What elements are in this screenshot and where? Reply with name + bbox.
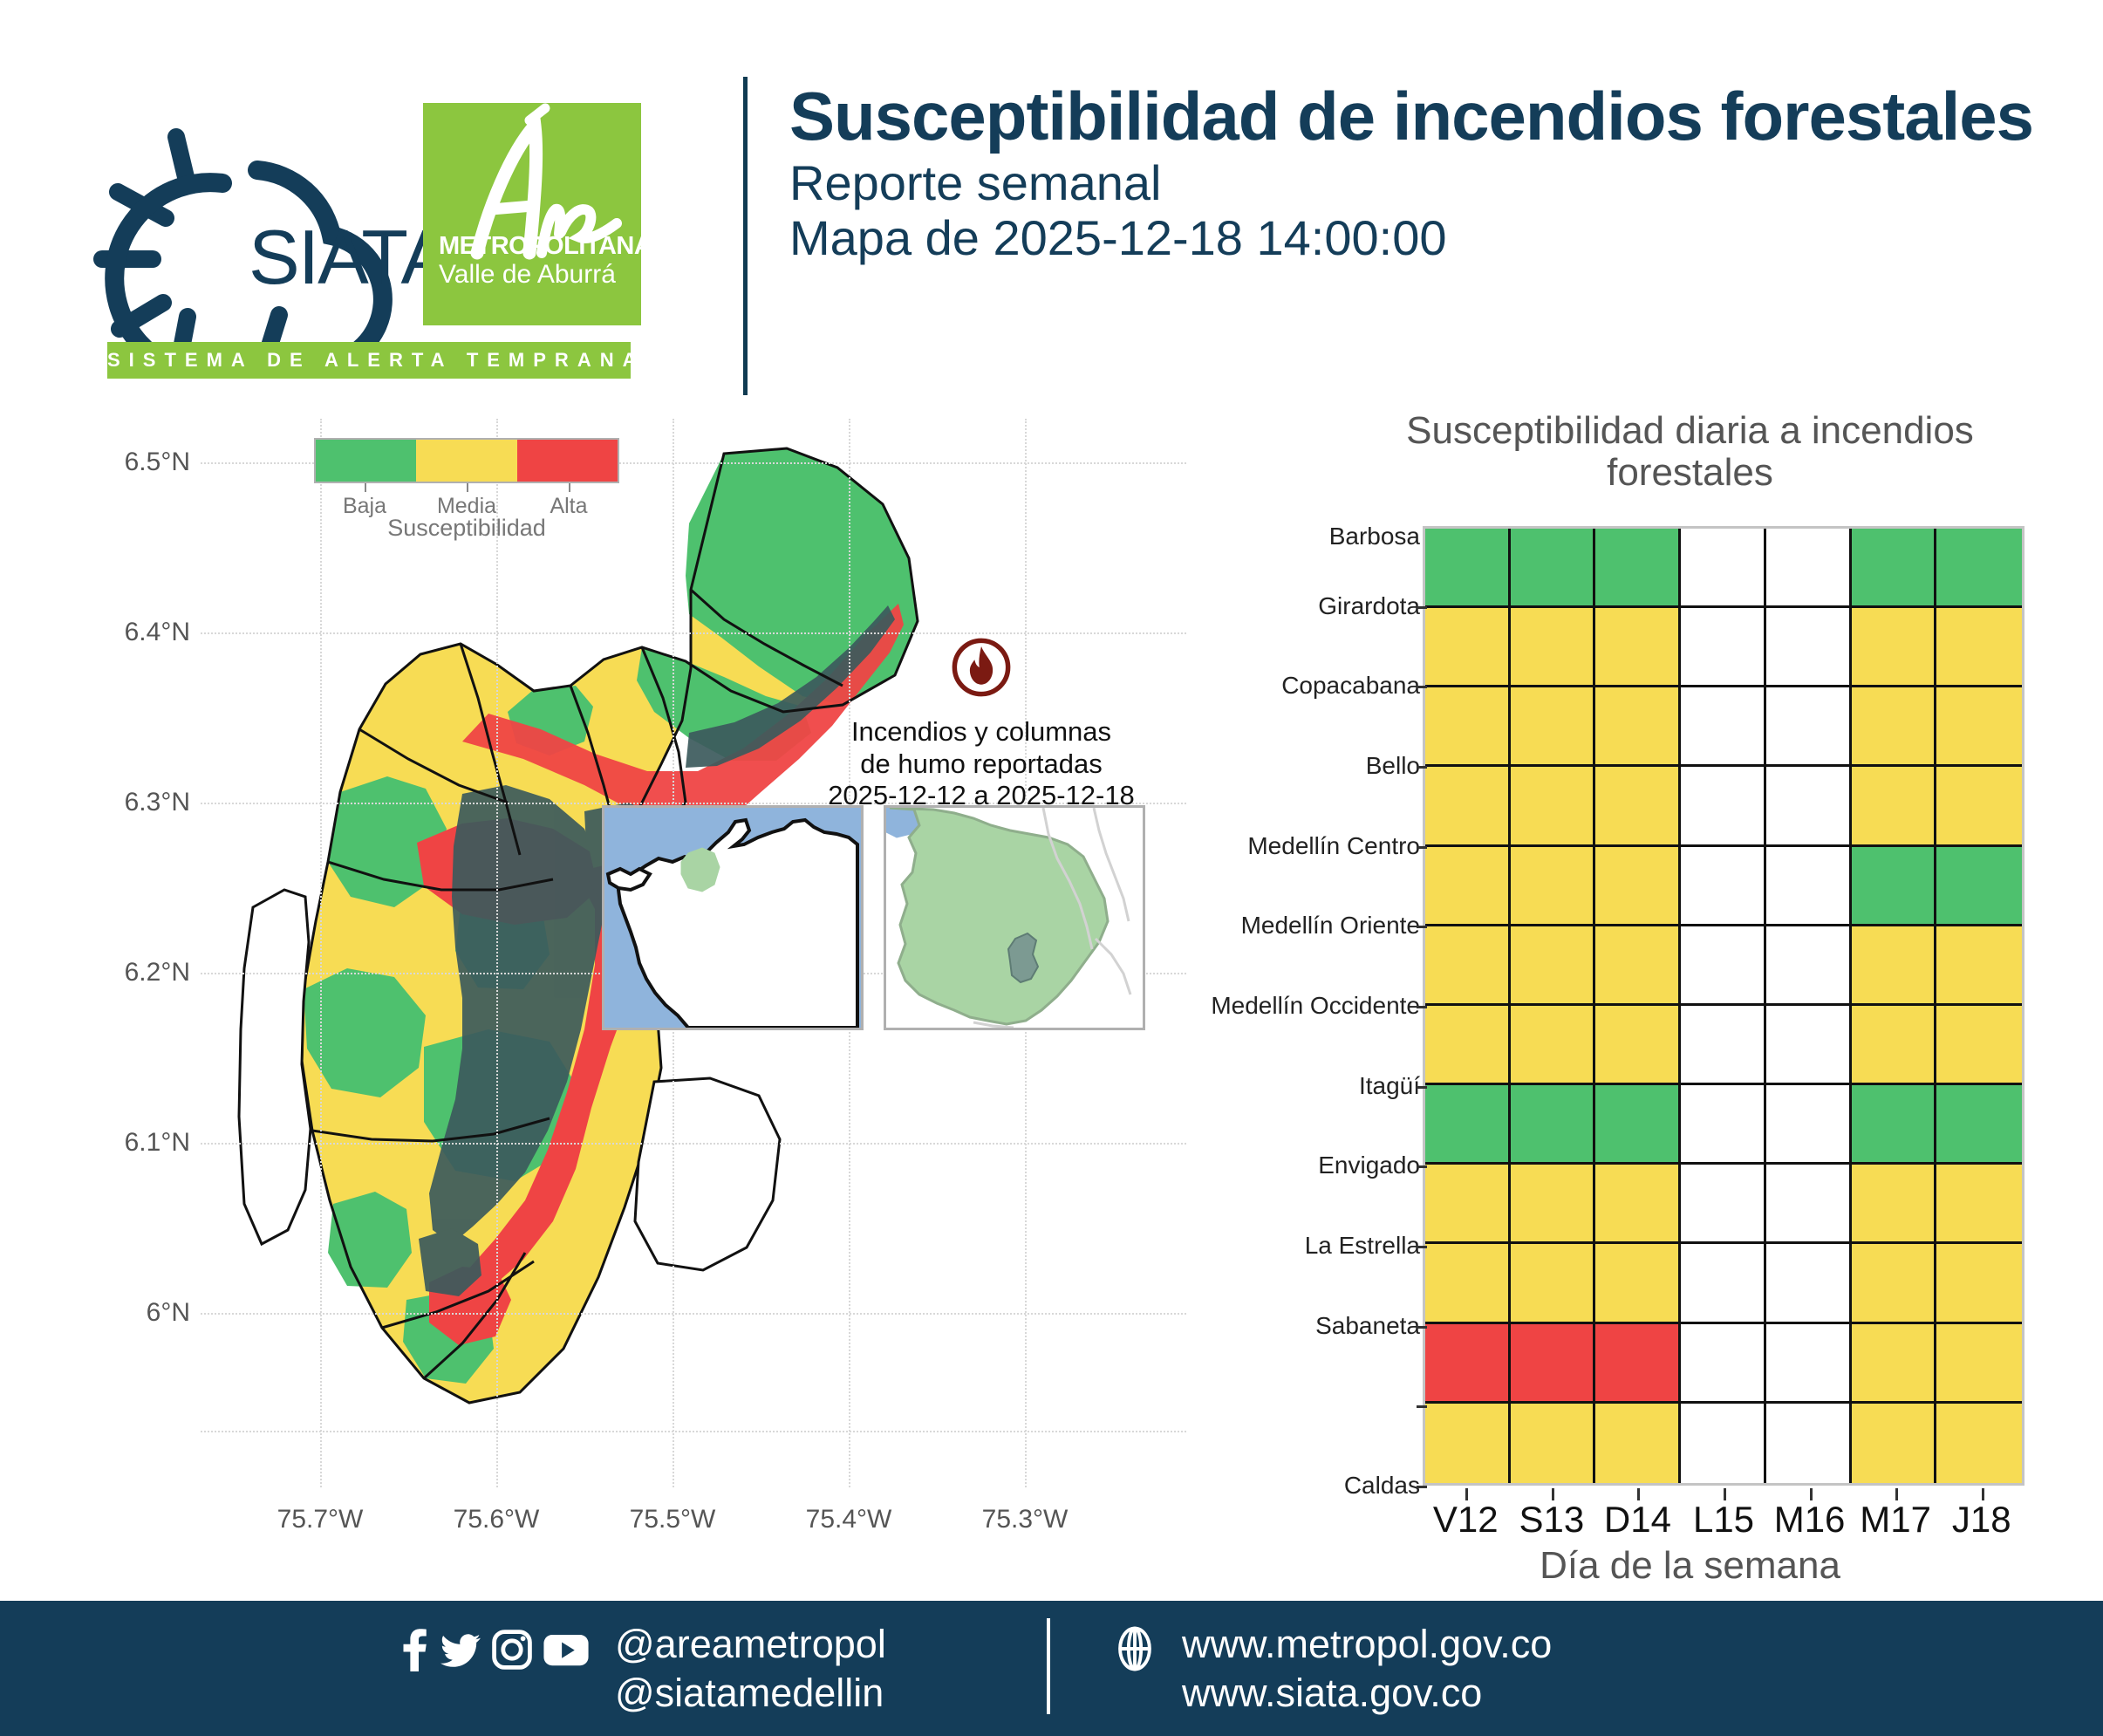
heatmap-cell[interactable] [1936,1165,2022,1244]
svg-text:SIATA: SIATA [249,214,453,300]
heatmap-cell[interactable] [1766,1324,1852,1404]
heatmap-cell[interactable] [1852,1085,1937,1165]
handle-siatamedellin[interactable]: @siatamedellin [615,1669,886,1718]
heatmap-cell[interactable] [1511,1165,1596,1244]
legend-title: Susceptibilidad [314,515,619,542]
map-xtick: 75.4°W [806,1505,892,1534]
heatmap-cell[interactable] [1425,847,1511,926]
heatmap-cell[interactable] [1936,1244,2022,1323]
heatmap-cell[interactable] [1766,1006,1852,1085]
heatmap-cell[interactable] [1852,1244,1937,1323]
heatmap-cell[interactable] [1681,1404,1766,1483]
heatmap-y-label: Medellín Centro [1247,832,1420,860]
legend-swatch-baja [316,440,416,482]
map-ytick: 6.5°N [125,448,190,477]
heatmap-x-label: D14 [1604,1499,1671,1541]
heatmap-x-tick [1465,1488,1468,1500]
heatmap-cell[interactable] [1511,1244,1596,1323]
heatmap-x-tick [1637,1488,1640,1500]
facebook-icon[interactable] [397,1627,432,1672]
youtube-icon[interactable] [542,1627,591,1672]
map-xtick: 75.7°W [277,1505,364,1534]
legend-swatch-media [416,440,516,482]
map-timestamp: Mapa de 2025-12-18 14:00:00 [789,211,2080,266]
heatmap-cell[interactable] [1511,1006,1596,1085]
heatmap-x-tick [1895,1488,1898,1500]
heatmap-grid[interactable] [1423,526,2024,1486]
heatmap-y-tick [1417,926,1427,928]
legend-colorbar [314,438,619,483]
heatmap-cell[interactable] [1425,687,1511,767]
heatmap-y-label: Sabaneta [1315,1312,1420,1340]
heatmap-y-label: Copacabana [1281,672,1420,700]
area-line2: Valle de Aburrá [439,262,638,288]
heatmap-cell[interactable] [1425,1404,1511,1483]
heatmap-cell[interactable] [1595,687,1681,767]
map-gridline-v [320,419,322,1487]
heatmap-cell[interactable] [1936,926,2022,1006]
heatmap-cell[interactable] [1595,529,1681,608]
map-ytick: 6.3°N [125,788,190,817]
heatmap-y-label: Barbosa [1329,523,1420,550]
heatmap-cell[interactable] [1425,1244,1511,1323]
heatmap-cell[interactable] [1852,1404,1937,1483]
heatmap-cell[interactable] [1511,529,1596,608]
footer-web-block: www.metropol.gov.co www.siata.gov.co [1112,1620,1552,1719]
heatmap-x-axis-title: Día de la semana [1321,1544,2059,1588]
heatmap-cell[interactable] [1595,1404,1681,1483]
colombia-inset [602,805,864,1030]
heatmap-cell[interactable] [1425,926,1511,1006]
heatmap-cell[interactable] [1681,1244,1766,1323]
heatmap-y-tick [1417,1086,1427,1089]
heatmap-cell[interactable] [1852,926,1937,1006]
heatmap-cell[interactable] [1595,767,1681,846]
heatmap-cell[interactable] [1681,687,1766,767]
area-line1: METROPOLITANA [439,234,638,259]
susceptibility-legend: Baja Media Alta Susceptibilidad [314,438,619,525]
antioquia-inset-map [886,808,1143,1028]
heatmap-cell[interactable] [1681,608,1766,687]
heatmap-cell[interactable] [1852,687,1937,767]
heatmap-cell[interactable] [1852,1006,1937,1085]
heatmap-cell[interactable] [1511,1324,1596,1404]
heatmap-x-label: J18 [1952,1499,2011,1541]
heatmap-cell[interactable] [1595,1165,1681,1244]
footer: @areametropol @siatamedellin www.metropo… [0,1601,2103,1736]
heatmap-y-tick [1417,1246,1427,1248]
footer-social-block: @areametropol @siatamedellin [397,1620,886,1719]
heatmap-y-label: Itagüí [1359,1072,1420,1100]
heatmap-cell[interactable] [1852,608,1937,687]
heatmap-cell[interactable] [1681,1085,1766,1165]
heatmap-x-tick [1552,1488,1554,1500]
heatmap-cell[interactable] [1681,847,1766,926]
instagram-icon[interactable] [491,1627,533,1672]
header: SIATA SISTEMA DE ALERTA TEMPRANA METROPO… [0,0,2103,401]
map-gridline-h [201,632,1186,634]
heatmap-cell[interactable] [1766,687,1852,767]
heatmap-cell[interactable] [1852,529,1937,608]
poster-root: SIATA SISTEMA DE ALERTA TEMPRANA METROPO… [0,0,2103,1736]
heatmap-cell[interactable] [1936,1085,2022,1165]
heatmap-cell[interactable] [1852,1165,1937,1244]
handle-areametropol[interactable]: @areametropol [615,1620,886,1669]
heatmap-y-label: Medellín Oriente [1241,912,1420,940]
social-icons [397,1620,591,1672]
url-siata[interactable]: www.siata.gov.co [1182,1669,1552,1718]
globe-icon [1112,1625,1157,1672]
heatmap-y-label: Girardota [1318,592,1420,620]
heatmap-cell[interactable] [1425,608,1511,687]
title-block: Susceptibilidad de incendios forestales … [789,83,2080,266]
heatmap-cell[interactable] [1595,847,1681,926]
heatmap-x-tick [1810,1488,1813,1500]
website-urls: www.metropol.gov.co www.siata.gov.co [1182,1620,1552,1719]
page-subtitle: Reporte semanal [789,156,2080,211]
heatmap-cell[interactable] [1681,1006,1766,1085]
map-xtick: 75.6°W [454,1505,540,1534]
heatmap-y-tick [1417,766,1427,769]
fire-annotation-line1: Incendios y columnas [811,716,1151,748]
url-metropol[interactable]: www.metropol.gov.co [1182,1620,1552,1669]
heatmap-cell[interactable] [1681,767,1766,846]
heatmap-y-tick [1417,846,1427,849]
heatmap-cell[interactable] [1511,926,1596,1006]
map-gridline-h [201,1313,1186,1315]
map-ytick: 6°N [147,1298,190,1328]
heatmap-panel: Susceptibilidad diaria a incendios fores… [1217,410,2076,1570]
heatmap-cell[interactable] [1936,1324,2022,1404]
heatmap-cell[interactable] [1595,1324,1681,1404]
heatmap-cell[interactable] [1425,1165,1511,1244]
map-gridline-h [201,1431,1186,1432]
heatmap-x-tick [1982,1488,1984,1500]
heatmap-x-label: M16 [1774,1499,1846,1541]
heatmap-cell[interactable] [1595,1006,1681,1085]
map-ytick: 6.1°N [125,1128,190,1158]
heatmap-cell[interactable] [1425,1006,1511,1085]
heatmap-cell[interactable] [1936,847,2022,926]
heatmap-x-tick [1724,1488,1726,1500]
heatmap-cell[interactable] [1936,1006,2022,1085]
heatmap-title: Susceptibilidad diaria a incendios fores… [1321,410,2059,495]
heatmap-cell[interactable] [1936,687,2022,767]
heatmap-x-label: S13 [1519,1499,1584,1541]
heatmap-cell[interactable] [1511,1085,1596,1165]
heatmap-cell[interactable] [1766,1085,1852,1165]
fire-annotation-line2: de humo reportadas [811,748,1151,781]
heatmap-x-label: V12 [1433,1499,1499,1541]
heatmap-y-label: Bello [1366,752,1420,780]
heatmap-cell[interactable] [1425,1324,1511,1404]
heatmap-cell[interactable] [1595,608,1681,687]
map-ytick: 6.4°N [125,618,190,647]
heatmap-cell[interactable] [1936,608,2022,687]
heatmap-cell[interactable] [1595,1244,1681,1323]
heatmap-cell[interactable] [1595,1085,1681,1165]
heatmap-y-label: Caldas [1344,1472,1420,1500]
heatmap-cell[interactable] [1681,926,1766,1006]
heatmap-cell[interactable] [1936,529,2022,608]
heatmap-cell[interactable] [1766,1165,1852,1244]
footer-divider [1047,1618,1050,1714]
heatmap-y-tick [1417,1486,1427,1488]
heatmap-cell[interactable] [1425,529,1511,608]
map-panel: 6.5°N 6.4°N 6.3°N 6.2°N 6.1°N 6°N 75.7°W… [52,410,1204,1570]
heatmap-cell[interactable] [1766,1244,1852,1323]
heatmap-cell[interactable] [1852,1324,1937,1404]
heatmap-y-tick [1417,686,1427,688]
page-title: Susceptibilidad de incendios forestales [789,83,2080,149]
map-ytick: 6.2°N [125,958,190,988]
heatmap-cell[interactable] [1852,767,1937,846]
heatmap-x-label: L15 [1693,1499,1754,1541]
antioquia-inset [884,805,1145,1030]
heatmap-cell[interactable] [1681,1165,1766,1244]
heatmap-y-tick [1417,1326,1427,1329]
fire-icon [951,637,1012,698]
twitter-icon[interactable] [440,1627,482,1672]
map-gridline-v [496,419,498,1487]
heatmap-cell[interactable] [1511,687,1596,767]
map-gridline-h [201,1143,1186,1145]
heatmap-cell[interactable] [1766,608,1852,687]
legend-swatch-alta [517,440,618,482]
map-xtick: 75.3°W [982,1505,1069,1534]
heatmap-cell[interactable] [1681,1324,1766,1404]
heatmap-y-label: Envigado [1318,1152,1420,1179]
heatmap-x-label: M17 [1860,1499,1931,1541]
heatmap-y-tick [1417,606,1427,609]
heatmap-cell[interactable] [1936,767,2022,846]
header-divider [743,77,748,395]
heatmap-cell[interactable] [1766,529,1852,608]
heatmap-cell[interactable] [1936,1404,2022,1483]
heatmap-cell[interactable] [1511,767,1596,846]
heatmap-y-tick [1417,1006,1427,1008]
heatmap-cell[interactable] [1425,1085,1511,1165]
heatmap-cell[interactable] [1766,847,1852,926]
heatmap-y-tick [1417,1405,1427,1408]
heatmap-cell[interactable] [1766,1404,1852,1483]
area-metropolitana-logo: METROPOLITANA Valle de Aburrá [423,103,641,325]
map-plot-area: 6.5°N 6.4°N 6.3°N 6.2°N 6.1°N 6°N 75.7°W… [201,419,1186,1487]
map-xtick: 75.5°W [630,1505,716,1534]
heatmap-cell[interactable] [1852,847,1937,926]
heatmap-y-label: La Estrella [1305,1232,1420,1260]
colombia-inset-map [604,808,861,1028]
heatmap-y-label: Medellín Occidente [1211,992,1420,1020]
legend-ticks [314,483,619,494]
heatmap-cell[interactable] [1511,608,1596,687]
heatmap-cell[interactable] [1766,926,1852,1006]
heatmap-y-tick [1417,1165,1427,1168]
social-handles: @areametropol @siatamedellin [615,1620,886,1719]
heatmap-cell[interactable] [1595,926,1681,1006]
heatmap-cell[interactable] [1766,767,1852,846]
heatmap-cell[interactable] [1425,767,1511,846]
heatmap-cell[interactable] [1511,847,1596,926]
heatmap-cell[interactable] [1511,1404,1596,1483]
siata-tagline: SISTEMA DE ALERTA TEMPRANA [107,342,631,379]
heatmap-cell[interactable] [1681,529,1766,608]
